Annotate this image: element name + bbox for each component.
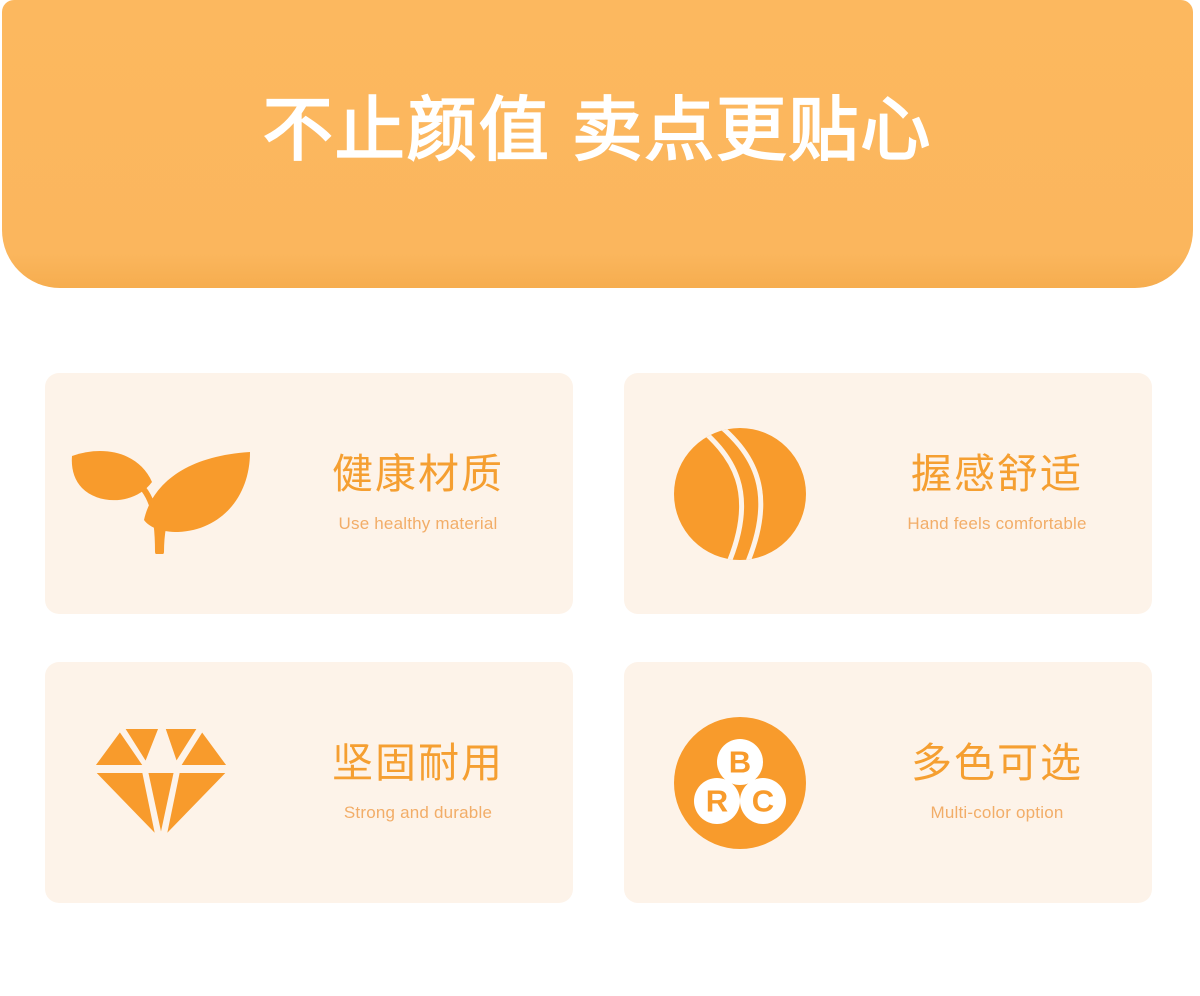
color-options-brc-icon: B R C (673, 716, 807, 850)
feature-card-healthy-material[interactable]: 健康材质 Use healthy material (45, 373, 573, 614)
feature-card-comfortable-grip[interactable]: 握感舒适 Hand feels comfortable (624, 373, 1152, 614)
header-banner: 不止颜值 卖点更贴心 (2, 0, 1193, 288)
feature-subtitle: Use healthy material (339, 514, 498, 534)
feature-title: 握感舒适 (911, 453, 1083, 496)
card-text-wrapper: 握感舒适 Hand feels comfortable (856, 453, 1152, 533)
color-letter-b: B (729, 744, 751, 779)
feature-title: 健康材质 (332, 453, 504, 496)
card-icon-wrapper (45, 662, 277, 903)
card-icon-wrapper (624, 373, 856, 614)
card-text-wrapper: 坚固耐用 Strong and durable (277, 742, 573, 822)
circle-arcs-icon (673, 427, 807, 561)
leaf-sprout-icon (66, 434, 256, 554)
feature-card-multi-color[interactable]: B R C 多色可选 Multi-color option (624, 662, 1152, 903)
feature-subtitle: Strong and durable (344, 803, 492, 823)
card-text-wrapper: 健康材质 Use healthy material (277, 453, 573, 533)
feature-title: 多色可选 (911, 742, 1083, 785)
feature-card-strong-durable[interactable]: 坚固耐用 Strong and durable (45, 662, 573, 903)
feature-title: 坚固耐用 (332, 742, 504, 785)
card-text-wrapper: 多色可选 Multi-color option (856, 742, 1152, 822)
card-icon-wrapper: B R C (624, 662, 856, 903)
color-letter-r: R (706, 783, 728, 818)
feature-subtitle: Multi-color option (930, 803, 1063, 823)
page-title: 不止颜值 卖点更贴心 (263, 95, 932, 165)
card-icon-wrapper (45, 373, 277, 614)
diamond-icon (88, 721, 234, 845)
color-letter-c: C (752, 783, 774, 818)
feature-subtitle: Hand feels comfortable (907, 514, 1086, 534)
feature-card-grid: 健康材质 Use healthy material 握感舒适 Hand (45, 373, 1152, 903)
